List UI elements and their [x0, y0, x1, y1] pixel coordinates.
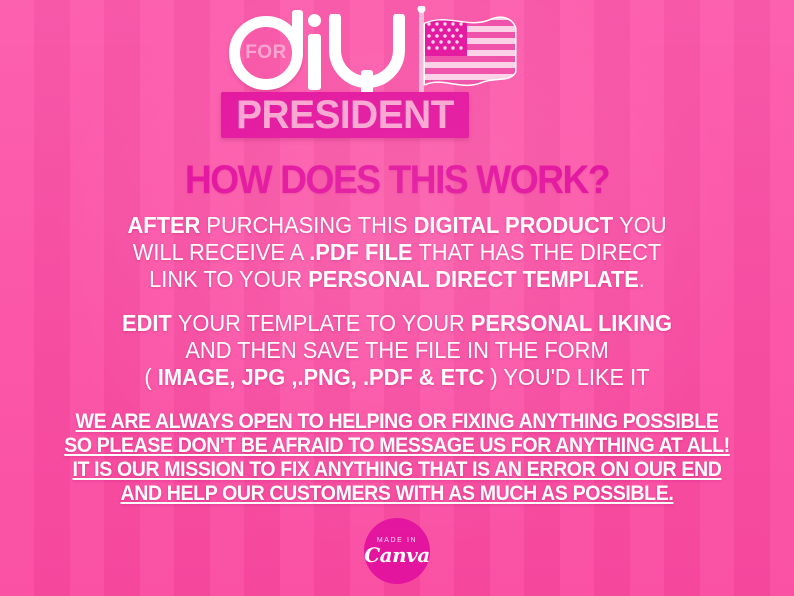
support-note-line: IT IS OUR MISSION TO FIX ANYTHING THAT I…: [28, 458, 766, 482]
support-note-line: SO PLEASE DON'T BE AFRAID TO MESSAGE US …: [28, 434, 766, 458]
letter-i-stem-icon: [308, 34, 321, 90]
emphasis-text: AFTER: [127, 212, 206, 238]
emphasis-text: DIGITAL PRODUCT: [414, 212, 620, 238]
paragraph-line: EDIT YOUR TEMPLATE TO YOUR PERSONAL LIKI…: [20, 310, 774, 337]
paragraph-line: WILL RECEIVE A .PDF FILE THAT HAS THE DI…: [20, 239, 774, 266]
support-note-line: AND HELP OUR CUSTOMERS WITH AS MUCH AS P…: [28, 482, 766, 506]
letter-y-icon: [329, 14, 405, 96]
paragraph-edit-info: EDIT YOUR TEMPLATE TO YOUR PERSONAL LIKI…: [20, 310, 774, 391]
poster-canvas: FOR: [0, 0, 794, 596]
body-text: ) YOU'D LIKE IT: [484, 364, 649, 390]
canva-wordmark: Canva: [364, 545, 430, 565]
page-title: HOW DOES THIS WORK?: [28, 158, 766, 202]
emphasis-text: EDIT: [122, 310, 178, 336]
body-text: AND THEN SAVE THE FILE IN THE FORM: [185, 337, 608, 363]
paragraph-purchase-info: AFTER PURCHASING THIS DIGITAL PRODUCT YO…: [20, 212, 774, 293]
emphasis-text: PERSONAL LIKING: [471, 310, 672, 336]
body-text: .: [639, 266, 645, 292]
emphasis-text: .PDF FILE: [309, 239, 418, 265]
paragraph-line: AND THEN SAVE THE FILE IN THE FORM: [20, 337, 774, 364]
emphasis-text: IMAGE, JPG ,.PNG, .PDF & ETC: [158, 364, 485, 390]
emphasis-text: PERSONAL DIRECT TEMPLATE: [308, 266, 639, 292]
body-text: WILL RECEIVE A: [133, 239, 309, 265]
made-in-canva-badge: MADE IN Canva: [364, 518, 430, 584]
paragraph-line: ( IMAGE, JPG ,.PNG, .PDF & ETC ) YOU'D L…: [20, 364, 774, 391]
support-note-line: WE ARE ALWAYS OPEN TO HELPING OR FIXING …: [28, 410, 766, 434]
support-note: WE ARE ALWAYS OPEN TO HELPING OR FIXING …: [28, 410, 766, 506]
body-text: YOU: [619, 212, 666, 238]
paragraph-line: LINK TO YOUR PERSONAL DIRECT TEMPLATE.: [20, 266, 774, 293]
body-text: YOUR TEMPLATE TO YOUR: [178, 310, 471, 336]
body-text: PURCHASING THIS: [206, 212, 413, 238]
diy-wordmark: FOR: [229, 10, 419, 96]
letter-i-dot-icon: [308, 14, 321, 27]
brand-logo: FOR: [0, 8, 794, 140]
logo-for-label: FOR: [229, 16, 303, 90]
body-text: THAT HAS THE DIRECT: [418, 239, 661, 265]
paragraph-line: AFTER PURCHASING THIS DIGITAL PRODUCT YO…: [20, 212, 774, 239]
logo-president-label: PRESIDENT: [225, 92, 466, 138]
body-text: LINK TO YOUR: [149, 266, 308, 292]
body-text: (: [144, 364, 157, 390]
